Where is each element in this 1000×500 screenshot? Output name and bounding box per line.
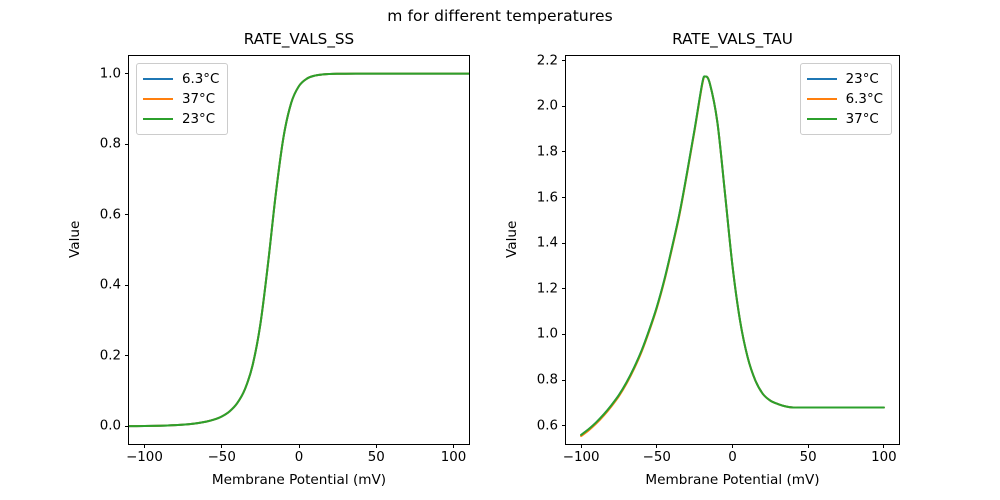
legend-entry[interactable]: 37°C [143,89,219,109]
xtick-label: −100 [563,450,600,465]
xtick-mark [732,444,733,448]
matplotlib-figure: m for different temperatures RATE_VALS_S… [0,0,1000,500]
legend-label: 6.3°C [182,72,219,87]
ytick-mark [562,425,566,426]
legend-entry[interactable]: 6.3°C [807,89,883,109]
xtick-label: −50 [643,450,671,465]
ytick-mark [125,355,129,356]
legend-label: 37°C [846,112,879,127]
xtick-mark [144,444,145,448]
legend-entry[interactable]: 37°C [807,109,883,129]
legend-label: 23°C [846,72,879,87]
figure-suptitle: m for different temperatures [0,7,1000,25]
xtick-label: 50 [800,450,817,465]
ytick-label: 0.6 [100,207,121,222]
legend-tau[interactable]: 23°C6.3°C37°C [800,63,892,135]
xtick-mark [221,444,222,448]
ytick-mark [125,144,129,145]
ytick-label: 0.4 [100,278,121,293]
ylabel-ss: Value [67,221,83,258]
ytick-mark [125,73,129,74]
ytick-mark [562,380,566,381]
xtick-mark [376,444,377,448]
ytick-label: 2.2 [537,53,558,68]
legend-ss[interactable]: 6.3°C37°C23°C [136,63,228,135]
xtick-label: 100 [441,450,467,465]
ytick-label: 0.8 [100,137,121,152]
ytick-mark [562,334,566,335]
ytick-label: 1.6 [537,190,558,205]
xtick-label: −100 [126,450,163,465]
ytick-mark [125,214,129,215]
ytick-mark [562,288,566,289]
ytick-label: 0.0 [100,419,121,434]
legend-entry[interactable]: 23°C [143,109,219,129]
xtick-mark [656,444,657,448]
ytick-mark [125,285,129,286]
ytick-mark [562,60,566,61]
legend-line-swatch [143,78,173,80]
ytick-mark [562,197,566,198]
legend-label: 6.3°C [846,92,883,107]
ytick-label: 1.4 [537,236,558,251]
xtick-mark [883,444,884,448]
axes-rate-vals-tau: RATE_VALS_TAU −100−500501000.60.81.01.21… [565,55,900,445]
xtick-mark [299,444,300,448]
ytick-label: 0.2 [100,348,121,363]
xtick-label: 100 [871,450,897,465]
legend-entry[interactable]: 6.3°C [143,69,219,89]
xtick-mark [808,444,809,448]
axes-title-ss: RATE_VALS_SS [129,30,469,48]
axes-rate-vals-ss: RATE_VALS_SS −100−500501000.00.20.40.60.… [128,55,470,445]
xlabel-tau: Membrane Potential (mV) [566,472,899,488]
legend-line-swatch [143,98,173,100]
ytick-mark [562,151,566,152]
xtick-label: −50 [208,450,236,465]
ytick-label: 2.0 [537,99,558,114]
legend-line-swatch [143,118,173,120]
xtick-label: 50 [368,450,385,465]
xtick-label: 0 [728,450,737,465]
legend-entry[interactable]: 23°C [807,69,883,89]
xtick-mark [581,444,582,448]
xlabel-ss: Membrane Potential (mV) [129,472,469,488]
legend-label: 37°C [182,92,215,107]
xtick-label: 0 [295,450,304,465]
ytick-mark [125,426,129,427]
ylabel-tau: Value [504,221,520,258]
ytick-mark [562,243,566,244]
ytick-label: 1.0 [537,327,558,342]
legend-line-swatch [807,98,837,100]
ytick-mark [562,106,566,107]
ytick-label: 1.0 [100,66,121,81]
xtick-mark [453,444,454,448]
legend-line-swatch [807,118,837,120]
ytick-label: 1.2 [537,281,558,296]
axes-title-tau: RATE_VALS_TAU [566,30,899,48]
ytick-label: 1.8 [537,144,558,159]
legend-line-swatch [807,78,837,80]
ytick-label: 0.6 [537,418,558,433]
ytick-label: 0.8 [537,373,558,388]
legend-label: 23°C [182,112,215,127]
